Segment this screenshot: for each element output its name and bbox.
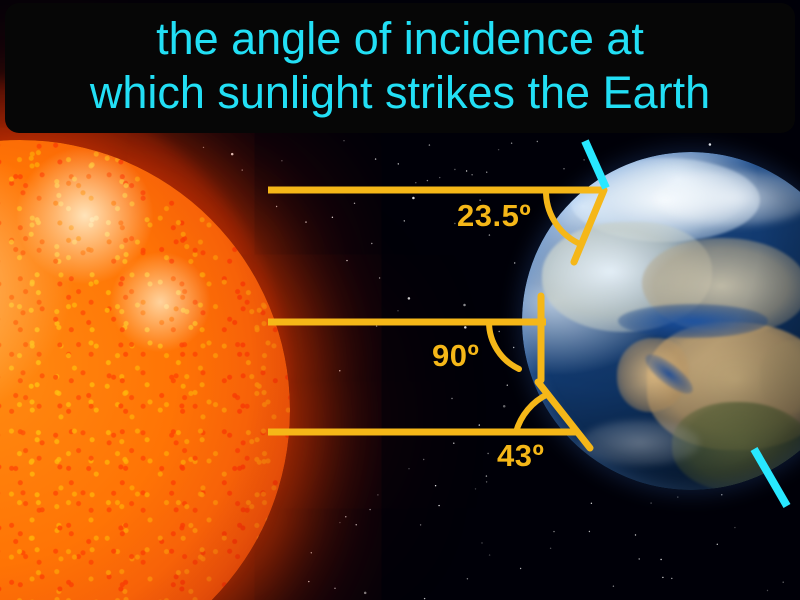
caption-line-2: which sunlight strikes the Earth xyxy=(90,66,710,120)
caption-line-1: the angle of incidence at xyxy=(156,12,644,66)
angle-label-north: 23.5º xyxy=(457,198,531,234)
diagram-canvas: 23.5º 90º 43º the angle of incidence at … xyxy=(0,0,800,600)
angle-label-equator: 90º xyxy=(432,338,479,374)
caption-box: the angle of incidence at which sunlight… xyxy=(5,3,795,133)
angle-label-south: 43º xyxy=(497,438,544,474)
